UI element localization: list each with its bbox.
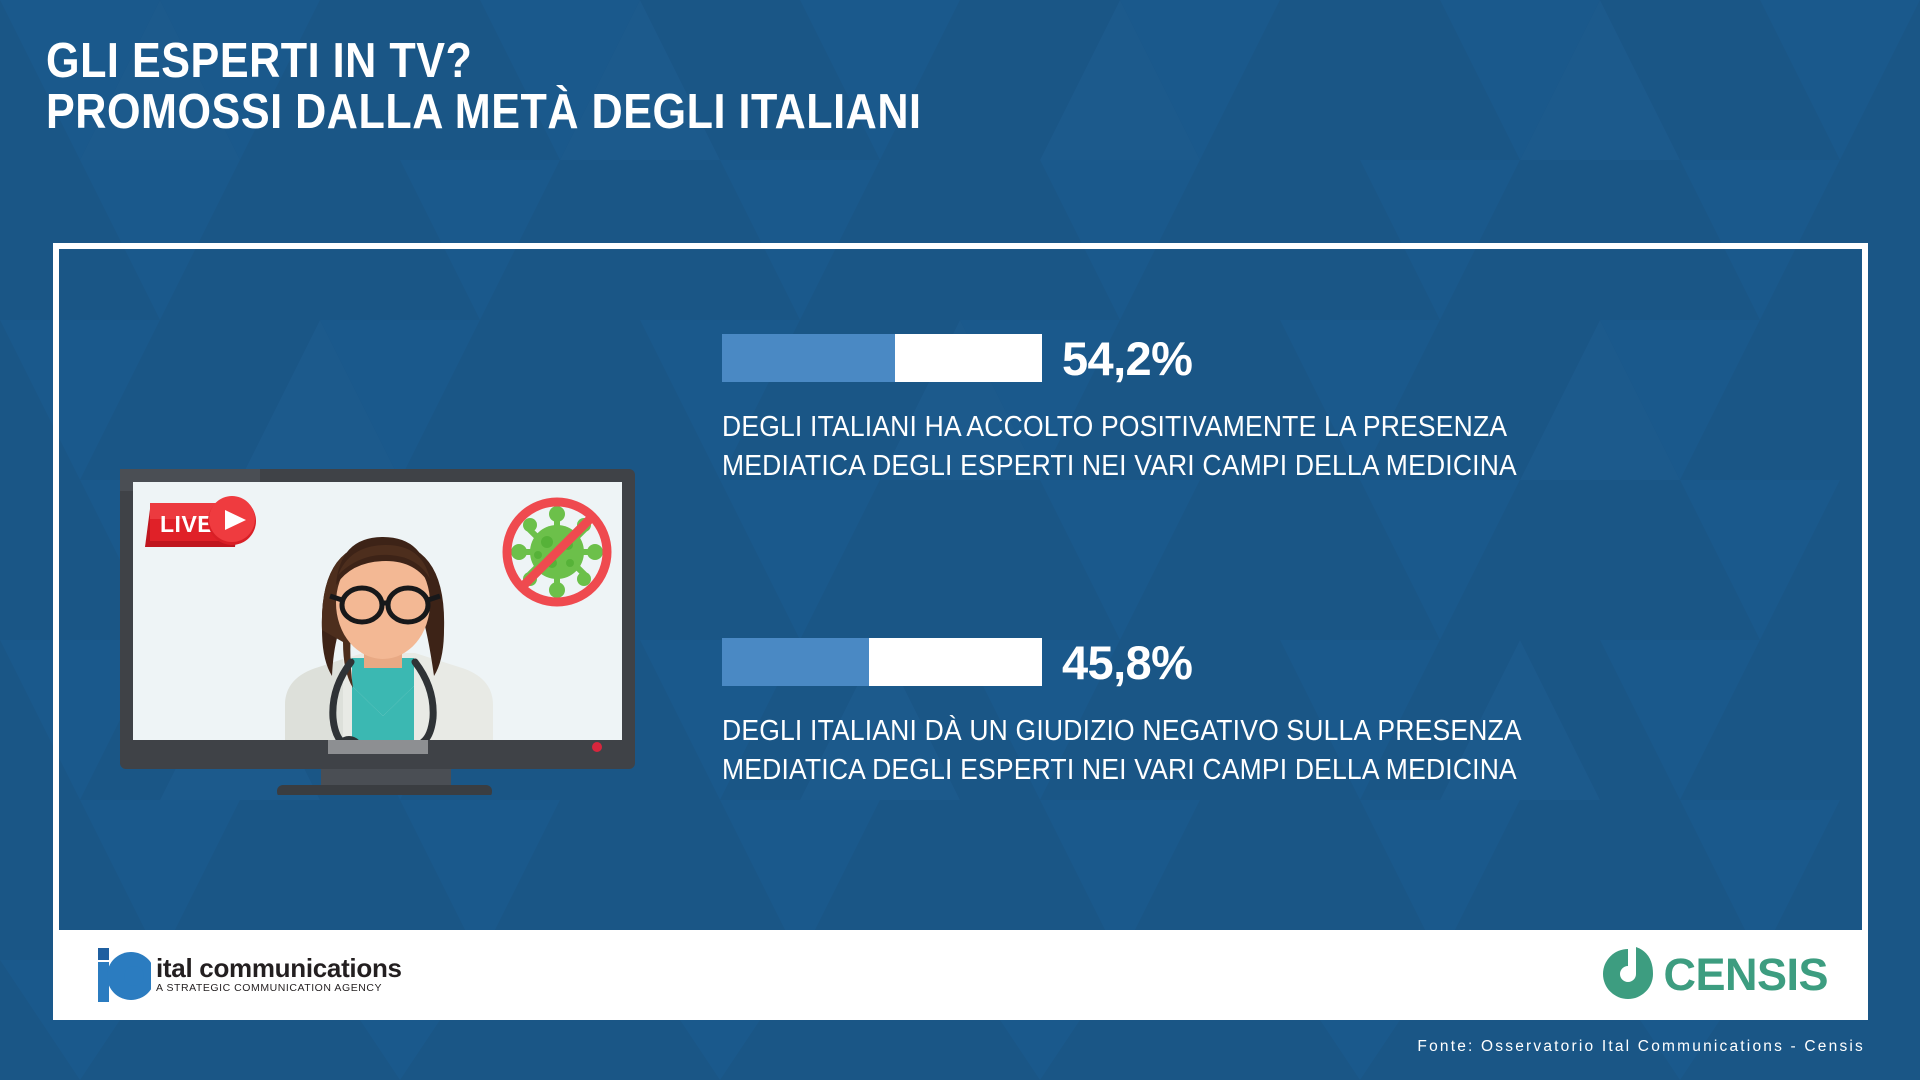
description-line-1: DEGLI ITALIANI DÀ UN GIUDIZIO NEGATIVO S… xyxy=(722,712,1671,751)
description-line-2: MEDIATICA DEGLI ESPERTI NEI VARI CAMPI D… xyxy=(722,751,1671,790)
stat-value-positive: 54,2% xyxy=(1062,335,1192,382)
ic-monogram-icon xyxy=(93,946,151,1004)
ital-logo-tagline: A STRATEGIC COMMUNICATION AGENCY xyxy=(156,982,402,995)
description-line-2: MEDIATICA DEGLI ESPERTI NEI VARI CAMPI D… xyxy=(722,447,1671,486)
stat-block-negative: 45,8% DEGLI ITALIANI DÀ UN GIUDIZIO NEGA… xyxy=(722,634,1742,790)
stat-value-negative: 45,8% xyxy=(1062,639,1192,686)
title-line-1: GLI ESPERTI IN TV? xyxy=(46,36,922,87)
bar-row: 45,8% xyxy=(722,634,1742,690)
progress-bar-negative xyxy=(722,638,1042,686)
censis-logo: CENSIS xyxy=(1597,942,1828,1006)
title-line-2: PROMOSSI DALLA METÀ DEGLI ITALIANI xyxy=(46,87,922,138)
stat-block-positive: 54,2% DEGLI ITALIANI HA ACCOLTO POSITIVA… xyxy=(722,330,1742,486)
censis-logo-name: CENSIS xyxy=(1663,952,1828,997)
tv-illustration: LIVE xyxy=(100,455,670,795)
ital-communications-logo: ital communications A STRATEGIC COMMUNIC… xyxy=(93,944,402,1006)
description-line-1: DEGLI ITALIANI HA ACCOLTO POSITIVAMENTE … xyxy=(722,408,1671,447)
infographic-canvas: GLI ESPERTI IN TV? PROMOSSI DALLA METÀ D… xyxy=(0,0,1920,1080)
no-coronavirus-icon xyxy=(507,502,607,602)
footer-band: ital communications A STRATEGIC COMMUNIC… xyxy=(53,930,1868,1020)
page-title: GLI ESPERTI IN TV? PROMOSSI DALLA METÀ D… xyxy=(46,36,1041,138)
stat-description-negative: DEGLI ITALIANI DÀ UN GIUDIZIO NEGATIVO S… xyxy=(722,712,1671,790)
censis-mark-icon xyxy=(1597,943,1659,1005)
bar-fill xyxy=(722,638,869,686)
bar-fill xyxy=(722,334,895,382)
stat-description-positive: DEGLI ITALIANI HA ACCOLTO POSITIVAMENTE … xyxy=(722,408,1671,486)
svg-text:LIVE: LIVE xyxy=(160,511,213,537)
statistics-group: 54,2% DEGLI ITALIANI HA ACCOLTO POSITIVA… xyxy=(722,330,1742,790)
ital-logo-name: ital communications xyxy=(156,955,402,982)
live-badge: LIVE xyxy=(145,496,256,547)
progress-bar-positive xyxy=(722,334,1042,382)
source-line: Fonte: Osservatorio Ital Communications … xyxy=(1417,1038,1865,1056)
bar-row: 54,2% xyxy=(722,330,1742,386)
